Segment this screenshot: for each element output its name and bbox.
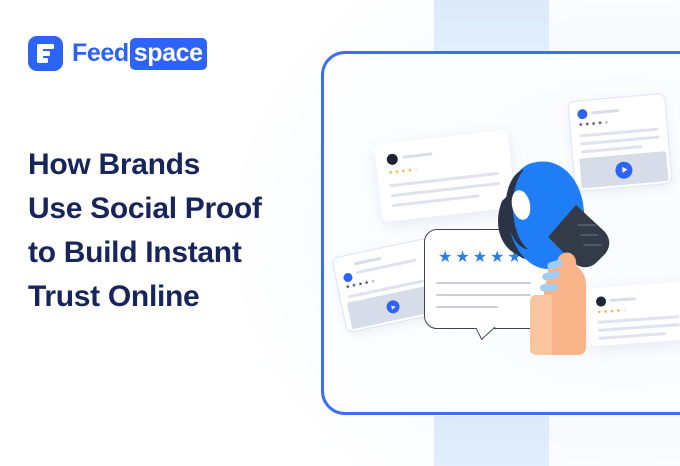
author-name-placeholder	[591, 109, 619, 114]
brand-wordmark: Feed space	[72, 38, 207, 70]
background-band-bottom	[434, 416, 549, 466]
headline-line-3: to Build Instant	[28, 231, 328, 275]
banner-root: Feed space How Brands Use Social Proof t…	[0, 0, 680, 466]
text-line	[598, 332, 666, 340]
headline-line-1: How Brands	[28, 143, 328, 187]
author-name-placeholder	[610, 297, 636, 302]
text-line	[598, 323, 680, 332]
headline-line-4: Trust Online	[28, 275, 328, 319]
wordmark-space: space	[130, 38, 207, 70]
speech-bubble-tail	[476, 327, 500, 349]
illustration-frame: ★★★★★ ★★★★★	[321, 51, 680, 415]
rating-stars: ★★★★★	[578, 121, 609, 129]
text-line	[580, 136, 660, 146]
bubble-text-line	[436, 294, 531, 296]
page-title: How Brands Use Social Proof to Build Ins…	[28, 143, 328, 319]
background-band-top	[434, 0, 549, 52]
headline-line-2: Use Social Proof	[28, 187, 328, 231]
play-icon[interactable]	[385, 299, 400, 314]
feedspace-logo-mark-icon	[28, 36, 63, 71]
avatar	[577, 109, 588, 120]
author-name-placeholder	[402, 152, 432, 159]
rating-stars: ★★★★★	[597, 309, 628, 317]
review-card: ★★★★★	[586, 282, 680, 347]
text-line	[597, 315, 679, 324]
wordmark-feed: Feed	[72, 39, 129, 68]
bubble-text-line	[436, 306, 498, 308]
rating-stars: ★★★★★	[388, 168, 419, 177]
brand-logo[interactable]: Feed space	[28, 36, 207, 71]
author-name-placeholder	[353, 257, 381, 266]
avatar	[386, 153, 398, 165]
avatar	[343, 272, 354, 283]
hand-icon	[528, 237, 600, 355]
